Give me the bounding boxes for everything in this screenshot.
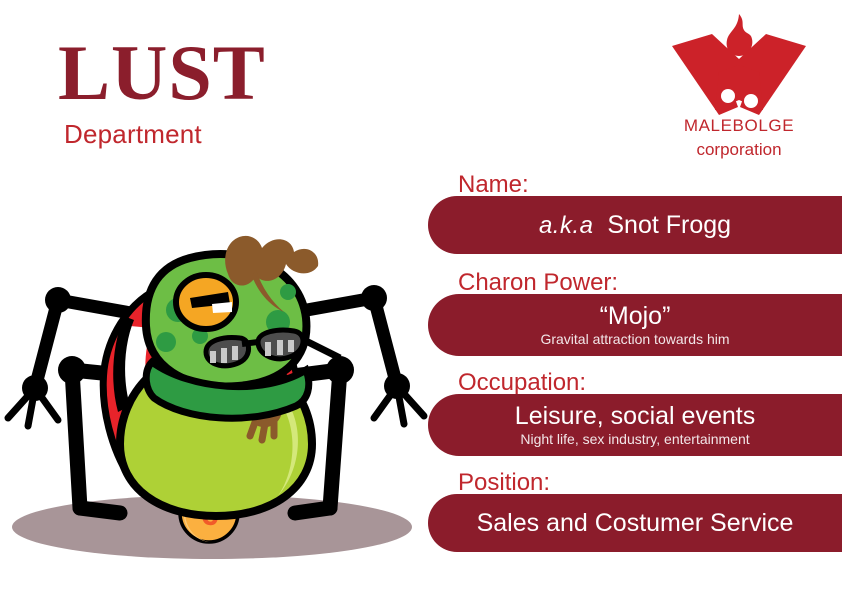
character-profile-card: LUST Department MALEBOLGE corporation — [0, 0, 842, 596]
field-charon-power-value: “Mojo” — [584, 302, 687, 331]
character-info-fields: Name: a.k.a Snot Frogg Charon Power: “Mo… — [428, 170, 842, 552]
snot-frogg-character: € — [0, 230, 430, 560]
field-name-value: a.k.a Snot Frogg — [523, 211, 747, 240]
field-position-bar: Sales and Costumer Service — [428, 494, 842, 552]
character-head — [146, 236, 340, 418]
character-sunglasses — [206, 330, 340, 366]
malebolge-m-flame-icon — [666, 12, 812, 120]
field-occupation: Occupation: Leisure, social events Night… — [428, 368, 842, 456]
department-title-block: LUST Department — [58, 34, 358, 164]
field-gap — [428, 456, 842, 468]
page-title: LUST — [58, 34, 358, 112]
field-occupation-sub: Night life, sex industry, entertainment — [520, 431, 749, 448]
field-position-value: Sales and Costumer Service — [461, 509, 810, 538]
company-logo-block: MALEBOLGE corporation — [654, 12, 824, 160]
field-name-prefix: a.k.a — [539, 212, 594, 239]
field-gap — [428, 254, 842, 268]
field-occupation-bar: Leisure, social events Night life, sex i… — [428, 394, 842, 456]
character-eye — [176, 275, 236, 329]
field-charon-power-bar: “Mojo” Gravital attraction towards him — [428, 294, 842, 356]
field-name: Name: a.k.a Snot Frogg — [428, 170, 842, 254]
field-charon-power: Charon Power: “Mojo” Gravital attraction… — [428, 268, 842, 356]
field-occupation-value: Leisure, social events — [499, 402, 771, 431]
page-subtitle: Department — [64, 120, 358, 148]
company-name: MALEBOLGE — [654, 116, 824, 136]
field-name-bar: a.k.a Snot Frogg — [428, 196, 842, 254]
field-name-text: Snot Frogg — [607, 211, 731, 239]
field-position: Position: Sales and Costumer Service — [428, 468, 842, 552]
field-charon-power-sub: Gravital attraction towards him — [540, 331, 729, 348]
company-tagline: corporation — [654, 140, 824, 160]
field-gap — [428, 356, 842, 368]
